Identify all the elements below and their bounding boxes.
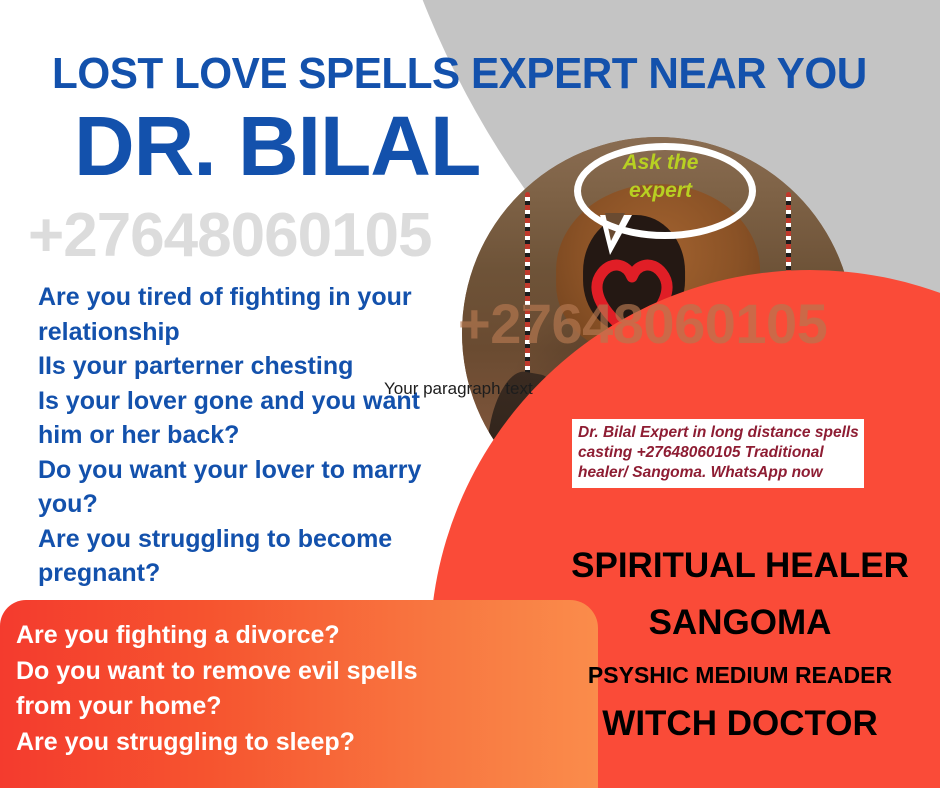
placeholder-paragraph: Your paragraph text (384, 379, 533, 399)
list-item: from your home? (16, 689, 598, 725)
service-psychic-medium-reader: PSYSHIC MEDIUM READER (540, 662, 940, 689)
services-list: SPIRITUAL HEALER SANGOMA PSYSHIC MEDIUM … (540, 545, 940, 744)
list-item: you? (38, 487, 463, 522)
doctor-name: DR. BILAL (74, 104, 480, 188)
list-item: Do you want to remove evil spells (16, 654, 598, 690)
list-item: Are you struggling to sleep? (16, 725, 598, 761)
list-item: Are you tired of fighting in your (38, 280, 463, 315)
blue-question-list: Are you tired of fighting in your relati… (38, 280, 463, 591)
phone-number-ghost: +27648060105 (28, 205, 432, 267)
service-witch-doctor: WITCH DOCTOR (540, 703, 940, 744)
speech-bubble-line-1: Ask the (623, 151, 699, 174)
page-title: LOST LOVE SPELLS EXPERT NEAR YOU (52, 52, 867, 96)
caption-line-3: healer/ Sangoma. WhatsApp now (578, 463, 860, 483)
list-item: Are you fighting a divorce? (16, 618, 598, 654)
caption-line-2: casting +27648060105 Traditional (578, 443, 860, 463)
caption-line-1: Dr. Bilal Expert in long distance spells (578, 423, 860, 443)
bottom-question-panel: Are you fighting a divorce? Do you want … (0, 600, 598, 788)
service-sangoma: SANGOMA (540, 602, 940, 643)
list-item: him or her back? (38, 418, 463, 453)
phone-number-overlay: +27648060105 (458, 291, 827, 356)
list-item: Are you struggling to become (38, 522, 463, 557)
speech-bubble-text: Ask the expert (588, 149, 733, 206)
list-item: relationship (38, 315, 463, 350)
speech-bubble-line-2: expert (629, 179, 692, 202)
list-item: Do you want your lover to marry (38, 453, 463, 488)
service-spiritual-healer: SPIRITUAL HEALER (540, 545, 940, 586)
photo-caption: Dr. Bilal Expert in long distance spells… (572, 419, 864, 488)
flyer-canvas: +27648060105 Ask the expert (0, 0, 940, 788)
list-item: pregnant? (38, 556, 463, 591)
